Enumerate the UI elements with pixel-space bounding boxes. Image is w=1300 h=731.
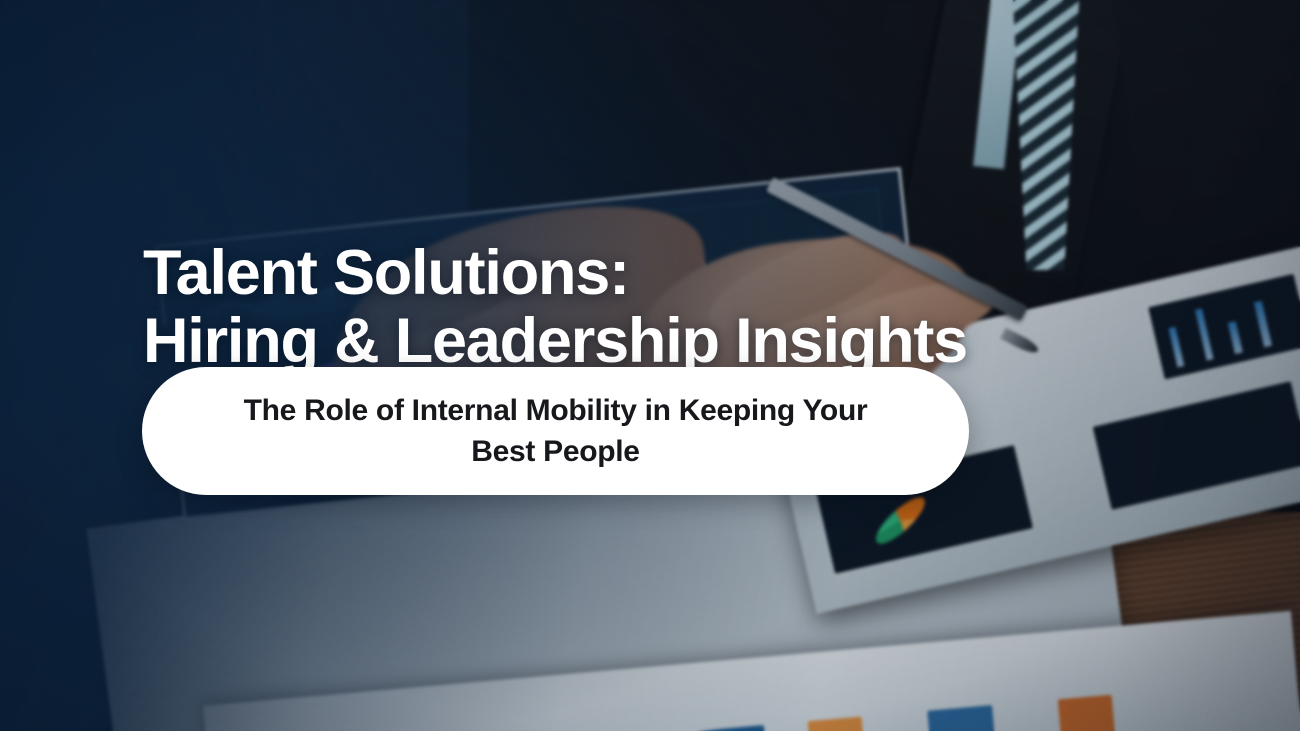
subtitle-pill: The Role of Internal Mobility in Keeping… — [142, 367, 969, 495]
subtitle-text: The Role of Internal Mobility in Keeping… — [210, 390, 902, 472]
hero-banner: Talent Solutions: Hiring & Leadership In… — [0, 0, 1300, 731]
banner-content: Talent Solutions: Hiring & Leadership In… — [0, 0, 1300, 731]
page-title: Talent Solutions: Hiring & Leadership In… — [143, 239, 1143, 375]
